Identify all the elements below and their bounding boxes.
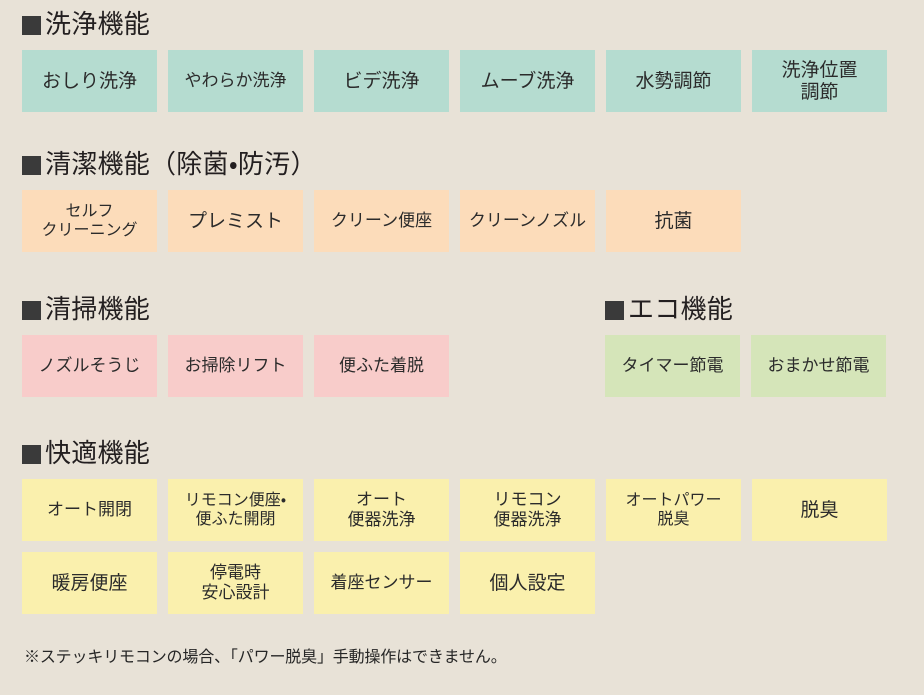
feature-tile[interactable]: オート開閉 xyxy=(22,479,157,541)
section-clean: 清潔機能（除菌・防汚） セルフ クリーニング プレミスト クリーン便座 クリーン… xyxy=(22,152,741,252)
section-heading-comfort: 快適機能 xyxy=(22,441,887,467)
feature-tile[interactable]: リモコン便座・ 便ふた開閉 xyxy=(168,479,303,541)
feature-tile[interactable]: 脱臭 xyxy=(752,479,887,541)
section-heading-label: 洗浄機能 xyxy=(45,12,150,38)
feature-tile[interactable]: クリーン便座 xyxy=(314,190,449,252)
feature-tile[interactable]: ノズルそうじ xyxy=(22,335,157,397)
feature-tile[interactable]: 抗菌 xyxy=(606,190,741,252)
feature-tile[interactable]: お掃除リフト xyxy=(168,335,303,397)
feature-tile[interactable]: セルフ クリーニング xyxy=(22,190,157,252)
tile-row: オート開閉 リモコン便座・ 便ふた開閉 オート 便器洗浄 リモコン 便器洗浄 オ… xyxy=(22,479,887,541)
feature-tile[interactable]: クリーンノズル xyxy=(460,190,595,252)
section-comfort: 快適機能 オート開閉 リモコン便座・ 便ふた開閉 オート 便器洗浄 リモコン 便… xyxy=(22,441,887,614)
section-heading-wash: 洗浄機能 xyxy=(22,12,887,38)
feature-matrix-page: 洗浄機能 おしり洗浄 やわらか洗浄 ビデ洗浄 ムーブ洗浄 水勢調節 洗浄位置 調… xyxy=(0,0,924,695)
feature-tile[interactable]: やわらか洗浄 xyxy=(168,50,303,112)
feature-tile[interactable]: 個人設定 xyxy=(460,552,595,614)
tile-row: セルフ クリーニング プレミスト クリーン便座 クリーンノズル 抗菌 xyxy=(22,190,741,252)
bullet-square-icon xyxy=(22,16,41,35)
bullet-square-icon xyxy=(605,301,624,320)
section-heading-label: 清掃機能 xyxy=(45,297,150,323)
section-sweep: 清掃機能 ノズルそうじ お掃除リフト 便ふた着脱 xyxy=(22,297,449,397)
bullet-square-icon xyxy=(22,445,41,464)
feature-tile[interactable]: 着座センサー xyxy=(314,552,449,614)
section-eco: エコ機能 タイマー節電 おまかせ節電 xyxy=(605,297,886,397)
section-heading-label: 快適機能 xyxy=(45,441,150,467)
section-wash: 洗浄機能 おしり洗浄 やわらか洗浄 ビデ洗浄 ムーブ洗浄 水勢調節 洗浄位置 調… xyxy=(22,12,887,112)
footnote: ※ステッキリモコンの場合、「パワー脱臭」手動操作はできません。 xyxy=(24,647,507,668)
feature-tile[interactable]: おまかせ節電 xyxy=(751,335,886,397)
section-heading-clean: 清潔機能（除菌・防汚） xyxy=(22,152,741,178)
section-heading-eco: エコ機能 xyxy=(605,297,886,323)
feature-tile[interactable]: 水勢調節 xyxy=(606,50,741,112)
feature-tile[interactable]: 停電時 安心設計 xyxy=(168,552,303,614)
feature-tile[interactable]: ビデ洗浄 xyxy=(314,50,449,112)
feature-tile[interactable]: 洗浄位置 調節 xyxy=(752,50,887,112)
feature-tile[interactable]: オート 便器洗浄 xyxy=(314,479,449,541)
feature-tile[interactable]: タイマー節電 xyxy=(605,335,740,397)
feature-tile[interactable]: プレミスト xyxy=(168,190,303,252)
feature-tile[interactable]: リモコン 便器洗浄 xyxy=(460,479,595,541)
tile-row: タイマー節電 おまかせ節電 xyxy=(605,335,886,397)
feature-tile[interactable]: オートパワー 脱臭 xyxy=(606,479,741,541)
feature-tile[interactable]: ムーブ洗浄 xyxy=(460,50,595,112)
section-heading-label: エコ機能 xyxy=(628,297,733,323)
tile-row: ノズルそうじ お掃除リフト 便ふた着脱 xyxy=(22,335,449,397)
section-heading-sweep: 清掃機能 xyxy=(22,297,449,323)
feature-tile[interactable]: おしり洗浄 xyxy=(22,50,157,112)
tile-row: おしり洗浄 やわらか洗浄 ビデ洗浄 ムーブ洗浄 水勢調節 洗浄位置 調節 xyxy=(22,50,887,112)
feature-tile[interactable]: 暖房便座 xyxy=(22,552,157,614)
section-heading-label: 清潔機能（除菌・防汚） xyxy=(45,152,317,178)
feature-tile[interactable]: 便ふた着脱 xyxy=(314,335,449,397)
bullet-square-icon xyxy=(22,301,41,320)
tile-row: 暖房便座 停電時 安心設計 着座センサー 個人設定 xyxy=(22,552,887,614)
bullet-square-icon xyxy=(22,156,41,175)
